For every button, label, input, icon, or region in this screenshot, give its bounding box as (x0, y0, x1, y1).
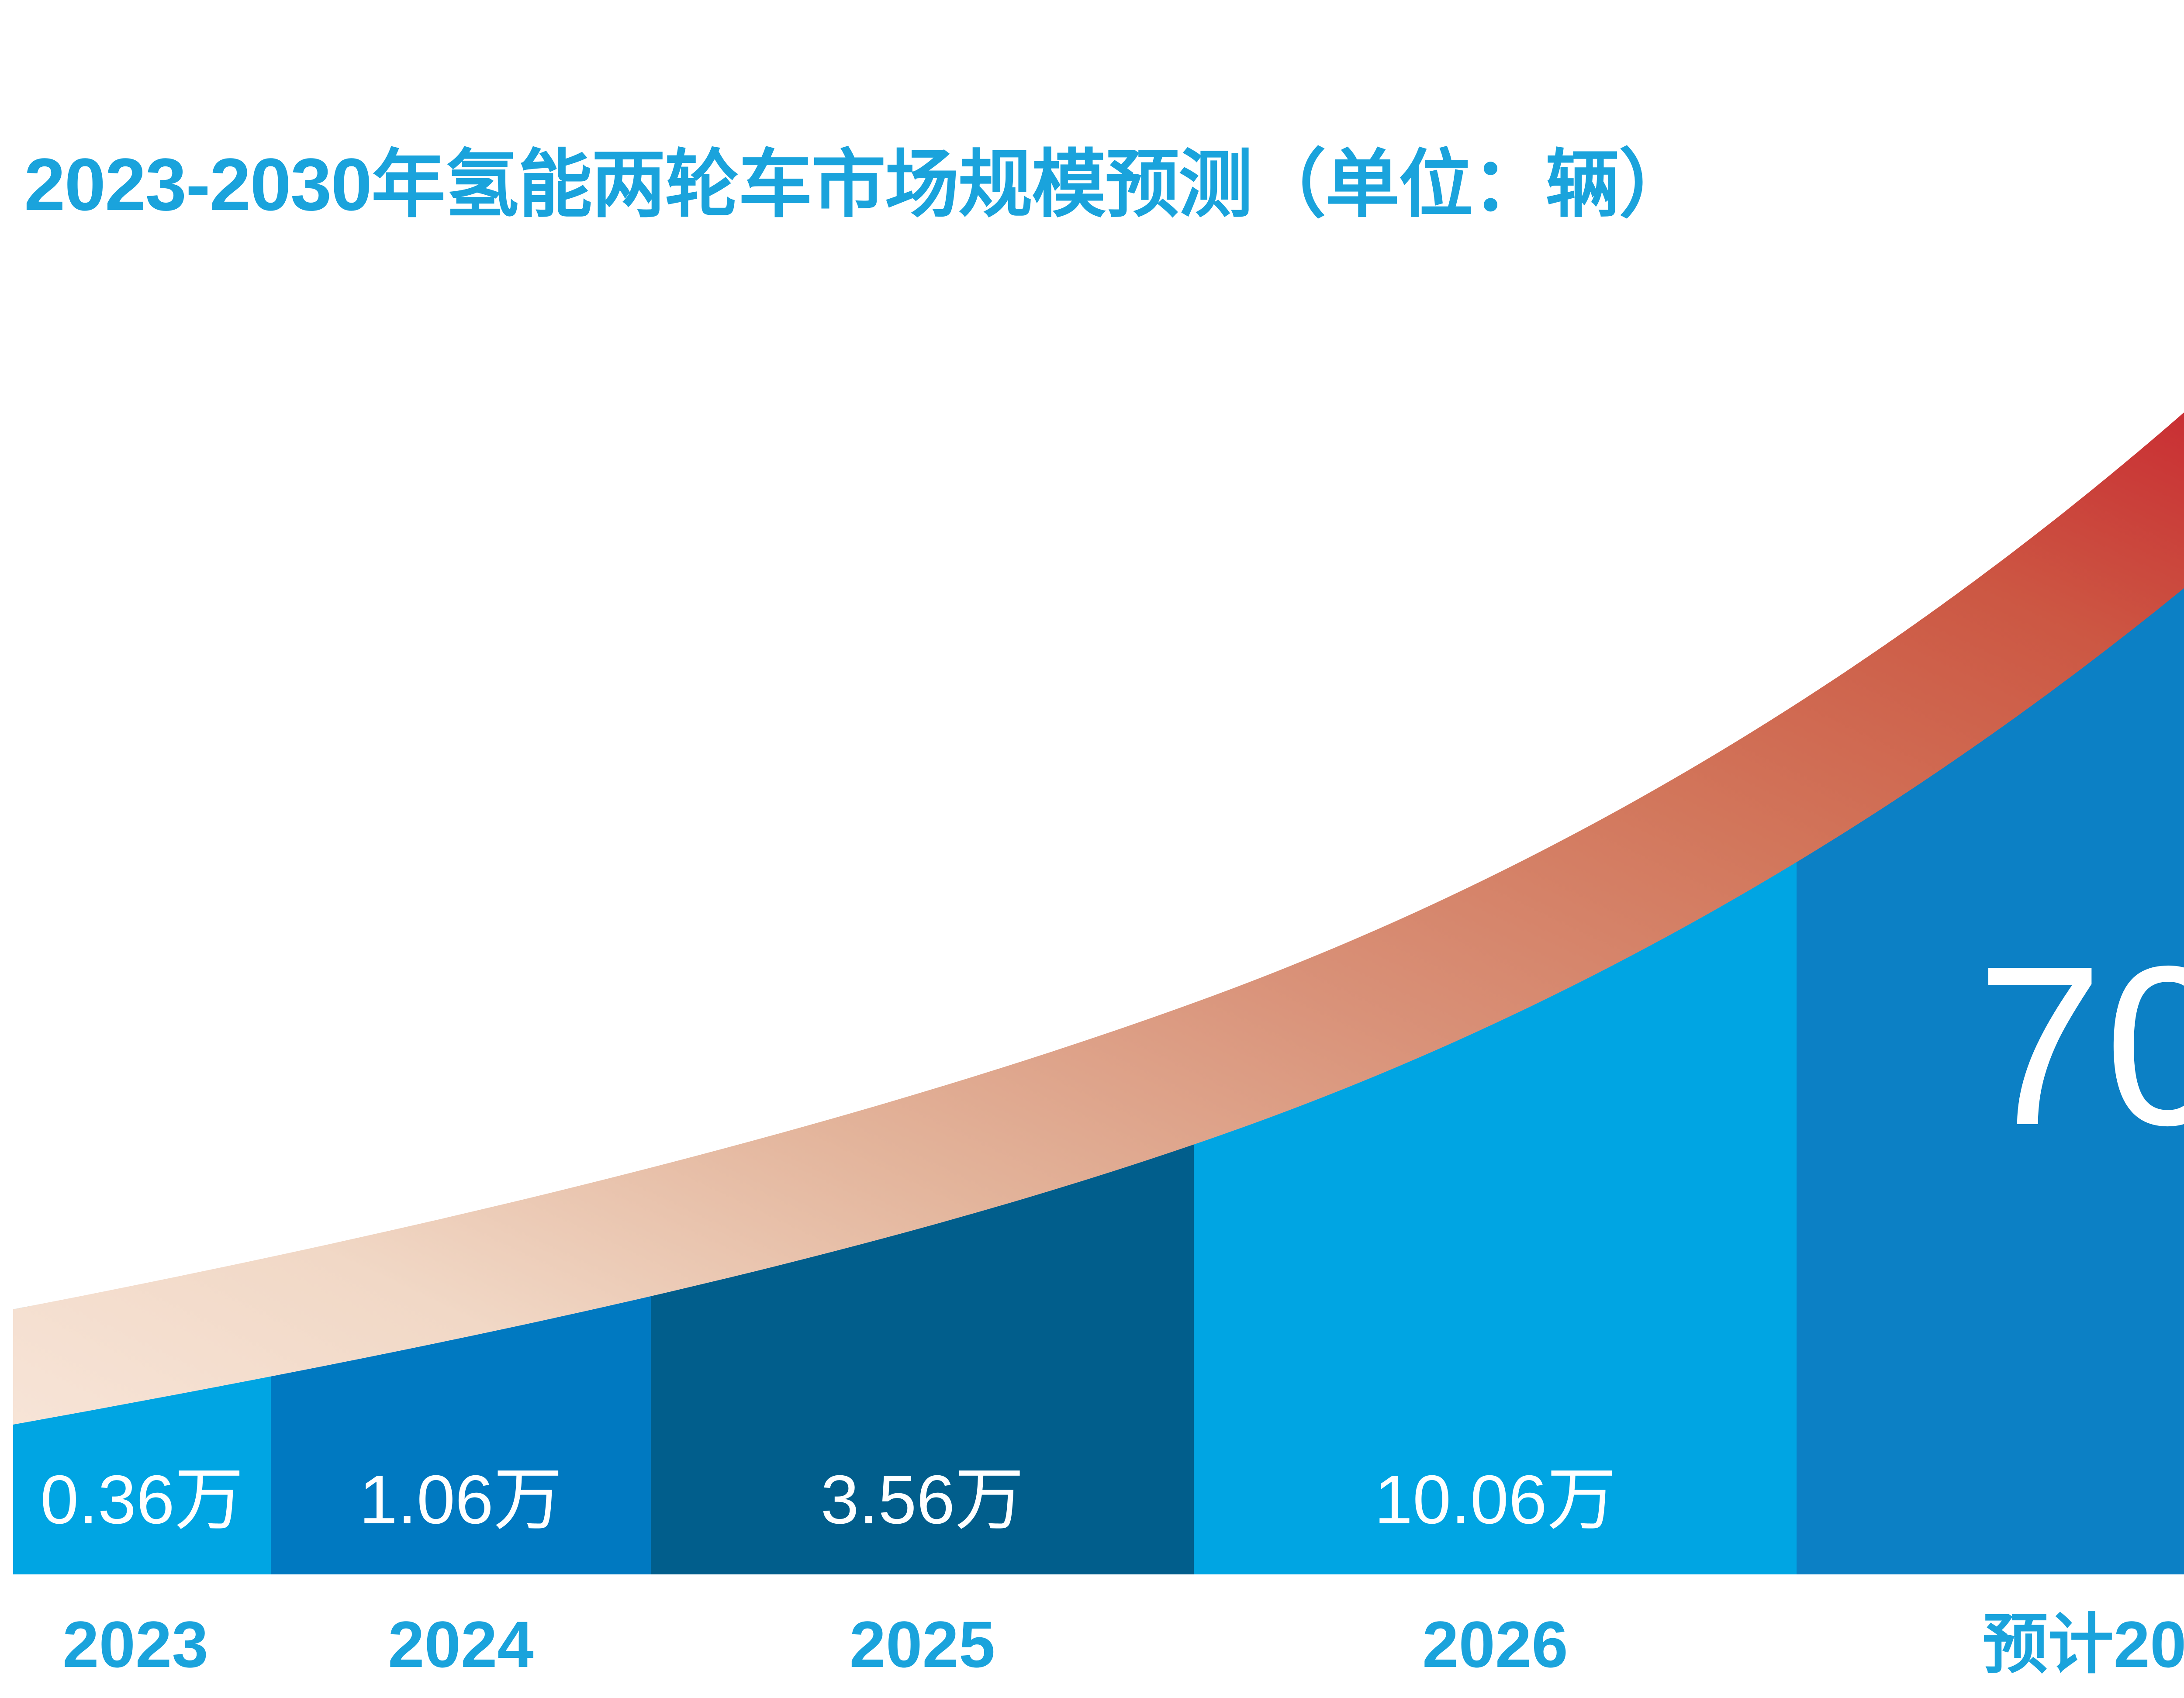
axis-label-2025: 2025 (651, 1612, 1194, 1677)
bar-2030-forecast (1797, 144, 2184, 1574)
axis-label-2030: 预计2030年增长 (1797, 1612, 2184, 1677)
bar-value-label-2030: 70万 (1797, 932, 2184, 1160)
bar-value-label-2026: 10.06万 (1194, 1465, 1797, 1534)
bar-value-label-2025: 3.56万 (651, 1465, 1194, 1534)
bar-value-label-2023: 0.36万 (13, 1465, 271, 1534)
axis-label-2024: 2024 (271, 1612, 651, 1677)
chart-canvas: 2023-2030年氢能两轮车市场规模预测（单位：辆） 0.36万 1.06万 … (0, 0, 2184, 1698)
page-title: 2023-2030年氢能两轮车市场规模预测（单位：辆） (24, 144, 1692, 226)
bar-value-label-2024: 1.06万 (271, 1465, 651, 1534)
axis-label-2023: 2023 (0, 1612, 297, 1677)
growth-bar-chart-graphic (0, 0, 2184, 1698)
axis-label-2026: 2026 (1194, 1612, 1797, 1677)
